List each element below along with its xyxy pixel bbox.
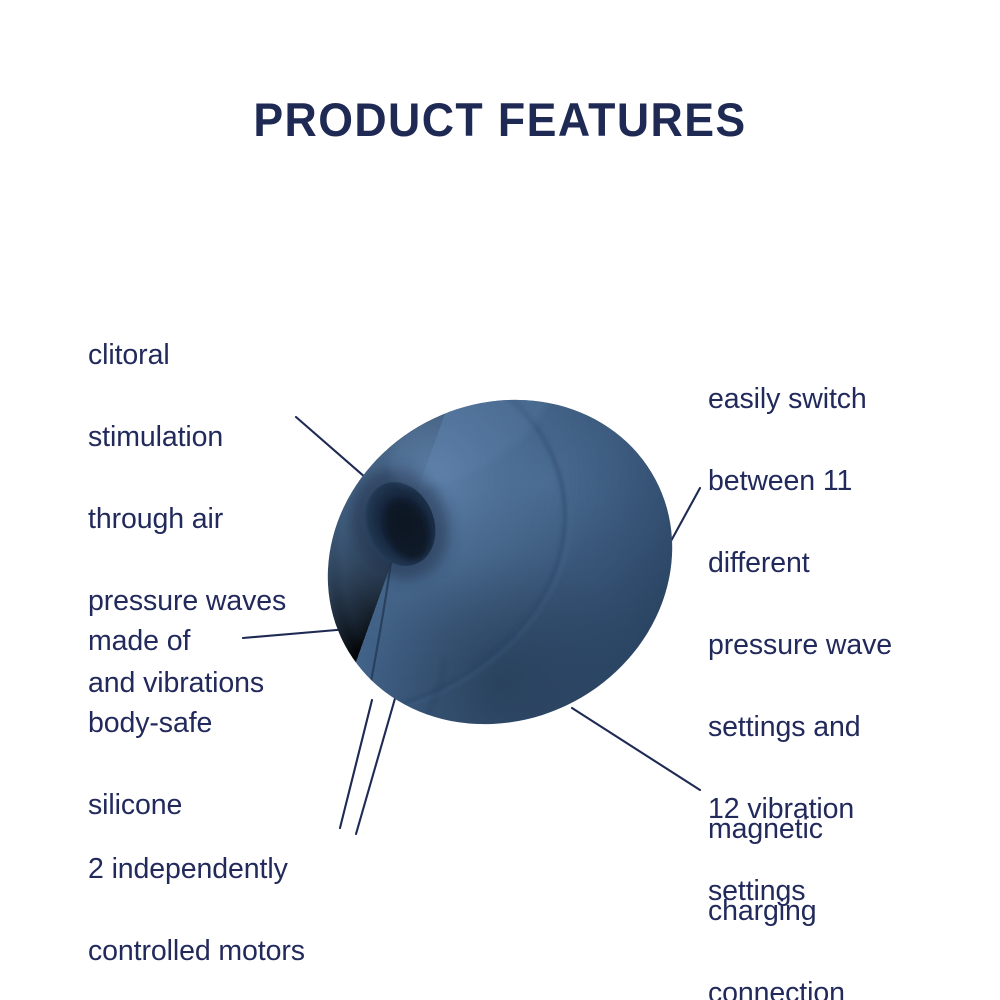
leader-line-magnetic: [572, 708, 700, 790]
callout-line: different: [708, 543, 948, 584]
callout-line: controlled motors: [88, 931, 378, 972]
callout-line: magnetic: [708, 809, 928, 850]
callout-line: pressure wave: [708, 625, 948, 666]
callout-line: clitoral: [88, 335, 358, 376]
callout-line: charging: [708, 891, 928, 932]
callout-line: easily switch: [708, 379, 948, 420]
callout-line: stimulation: [88, 417, 358, 458]
callout-line: between 11: [708, 461, 948, 502]
callout-controlled-motors: 2 independently controlled motors: [88, 808, 378, 1000]
callout-line: connection: [708, 973, 928, 1000]
callout-line: settings and: [708, 707, 948, 748]
product-features-diagram: PRODUCT FEATURES: [0, 0, 1000, 1000]
callout-line: body-safe: [88, 703, 318, 744]
callout-magnetic-charging: magnetic charging connection: [708, 768, 928, 1000]
callout-line: through air: [88, 499, 358, 540]
callout-line: made of: [88, 621, 318, 662]
callout-line: 2 independently: [88, 849, 378, 890]
